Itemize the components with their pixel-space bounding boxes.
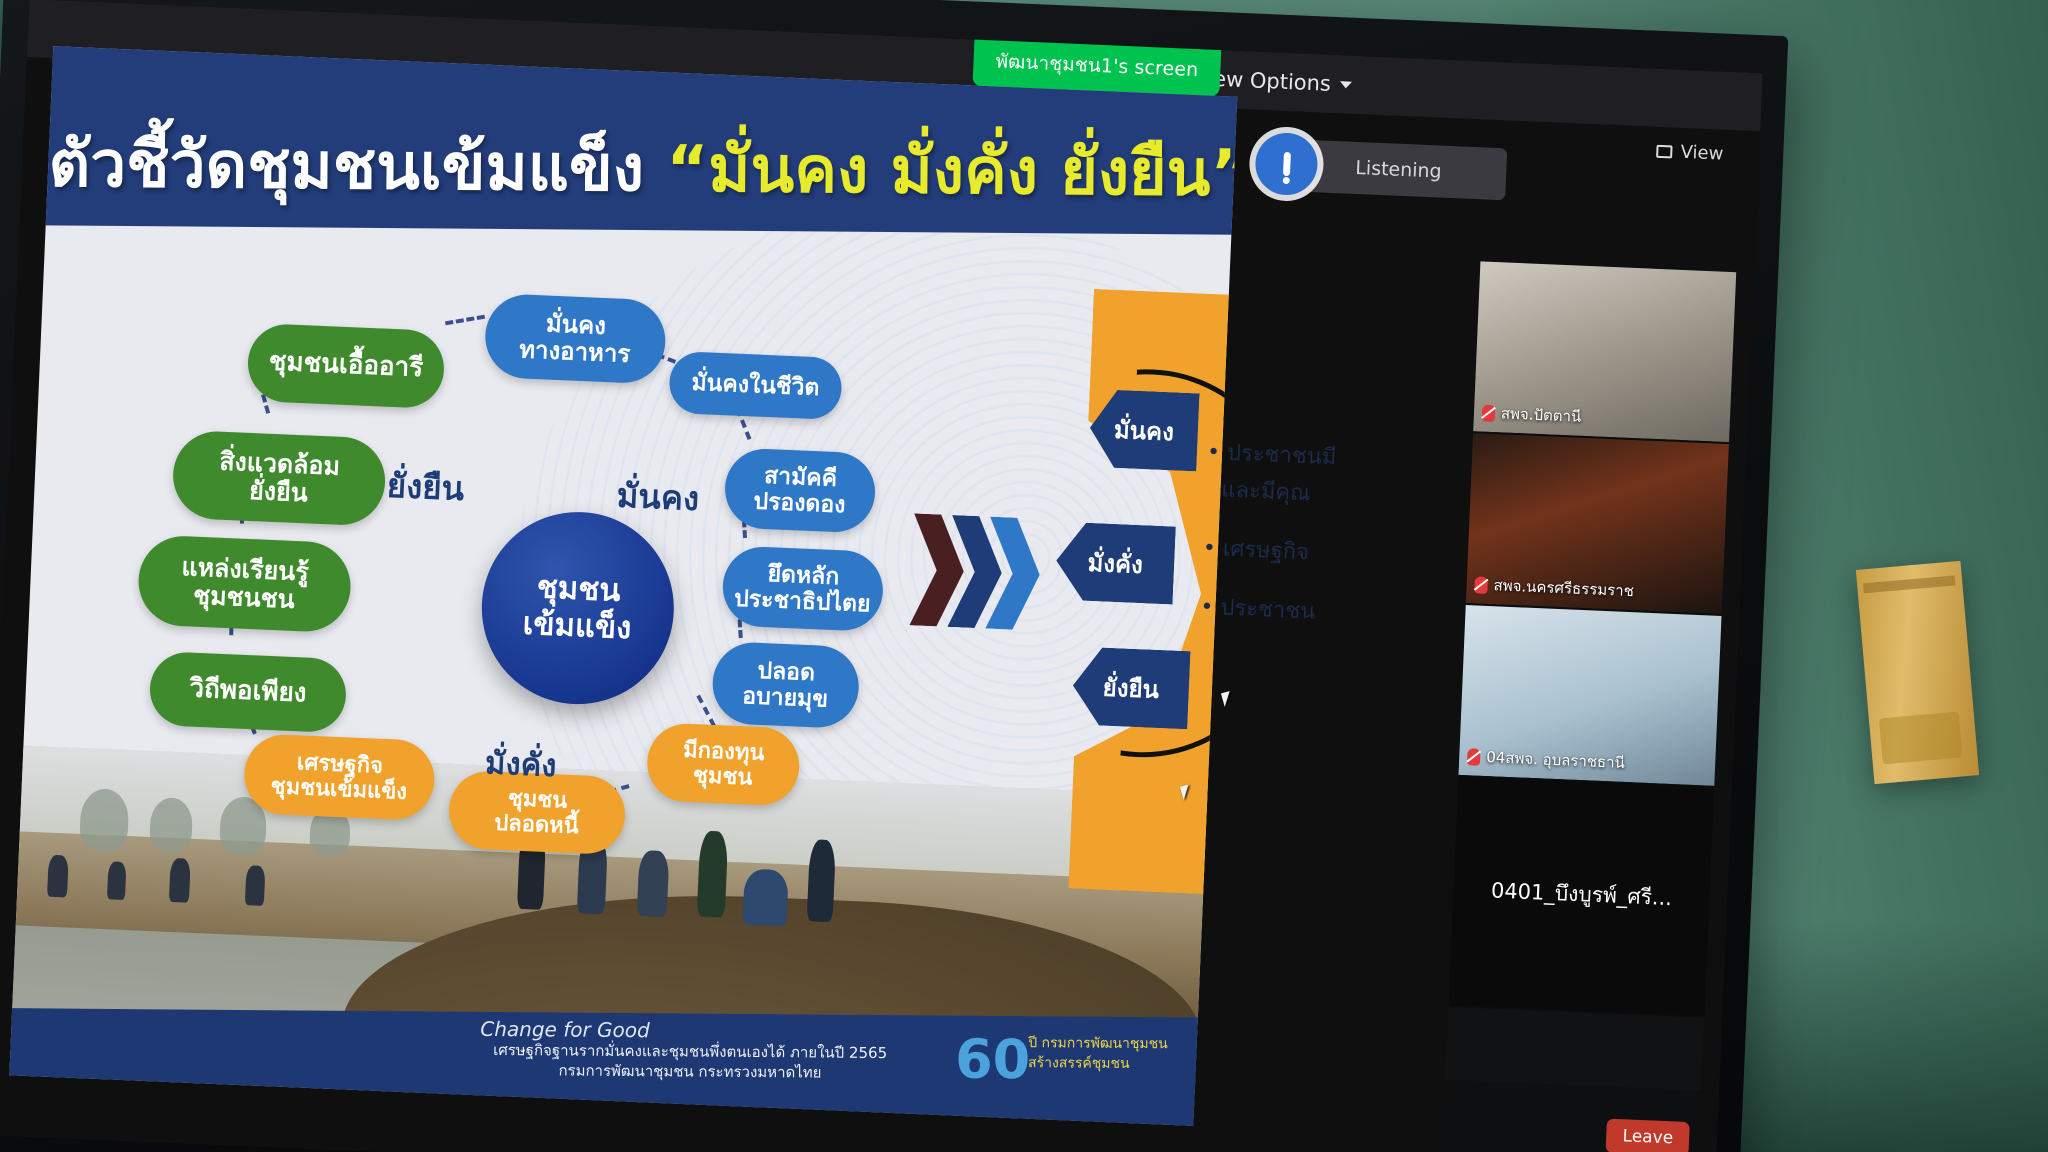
photo-person [47, 855, 69, 898]
badge-line-1: ปี กรมการพัฒนาชุมชน [1028, 1034, 1168, 1055]
bullet-text: และมีคุณ [1221, 477, 1311, 506]
mic-bar [1282, 152, 1290, 176]
participant-name-row: สพจ.นครศรีธรรมราช [1474, 572, 1634, 603]
active-speaker-name: 0401_บึงบูรพ์_ศรี... [1453, 873, 1710, 917]
footer-line-1: เศรษฐกิจฐานรากมั่นคงและชุมชนพึ่งตนเองได้… [460, 1040, 920, 1064]
slide-title: ตัวชี้วัดชุมชนเข้มแข็ง “มั่นคง มั่งคั่ง … [48, 113, 1234, 224]
view-button-label: View [1680, 142, 1724, 165]
zoom-meeting-window: View Options พัฒนาชุมชน1's screen View L… [0, 0, 1763, 1152]
chevron-arrow-blue [985, 517, 1042, 631]
wooden-object [1856, 561, 1979, 784]
view-layout-button[interactable]: View [1656, 141, 1724, 165]
photo-tree [149, 797, 193, 853]
photo-person [245, 865, 266, 906]
photo-person [807, 839, 836, 922]
pill-learning-center[interactable]: แหล่งเรียนรู้ ชุมชนชน [137, 534, 353, 633]
photo-person [169, 858, 191, 903]
chevron-shape [985, 517, 1042, 631]
grid-view-icon [1656, 145, 1673, 159]
pill-food-security[interactable]: มั่นคง ทางอาหาร [484, 293, 667, 385]
participant-tile[interactable]: สพจ.ปัตตานี [1473, 261, 1736, 444]
pill-life-security[interactable]: มั่นคงในชีวิต [668, 351, 842, 420]
photo-person [697, 831, 729, 918]
mic-muted-icon [1482, 404, 1496, 422]
pill-community-fund[interactable]: มีกองทุน ชุมชน [646, 722, 801, 806]
participant-name: สพจ.ปัตตานี [1500, 401, 1581, 428]
pill-free-of-vice[interactable]: ปลอด อบายมุข [711, 641, 860, 729]
anniversary-badge-text: ปี กรมการพัฒนาชุมชน สร้างสรรค์ชุมชน [1028, 1034, 1168, 1074]
footer-line-2: กรมการพัฒนาชุมชน กระทรวงมหาดไทย [460, 1060, 920, 1084]
active-speaker-tile[interactable]: 0401_บึงบูรพ์_ศรี... [1449, 777, 1715, 1018]
pill-democracy[interactable]: ยึดหลัก ประชาธิปไตย [721, 545, 884, 632]
photo-tree [79, 788, 130, 852]
bullet-text: ประชาชน [1220, 596, 1316, 625]
bullet-text: เศรษฐกิจ [1222, 537, 1309, 566]
pill-sustainable-environment[interactable]: สิ่งแวดล้อม ยั่งยืน [171, 430, 387, 527]
tv-screen: View Options พัฒนาชุมชน1's screen View L… [0, 0, 1763, 1152]
group-label-sustainable: ยั่งยืน [386, 459, 466, 515]
photo-person [742, 868, 788, 926]
pill-sufficiency-way[interactable]: วิถีพอเพียง [148, 651, 347, 733]
mouse-cursor-secondary [1221, 689, 1240, 707]
group-label-secure: มั่นคง [616, 469, 701, 525]
chevron-down-icon [1340, 81, 1352, 89]
pill-unity-reconciliation[interactable]: สามัคคี ปรองดอง [723, 447, 876, 533]
anniversary-badge-number: 60 [955, 1028, 1031, 1092]
mic-dot [1282, 177, 1289, 184]
photo-person [637, 850, 670, 917]
mic-muted-icon [1467, 748, 1481, 766]
participant-name: สพจ.นครศรีธรรมราช [1493, 573, 1634, 603]
slide-bullet-list: • ประชาชนมี และมีคุณ • เศรษฐกิจ • ประชาช… [1199, 436, 1408, 658]
television: View Options พัฒนาชุมชน1's screen View L… [0, 0, 1788, 1152]
photo-person [107, 861, 127, 900]
bullet-item: และมีคุณ [1205, 473, 1406, 515]
pill-community-generosity[interactable]: ชุมชนเอื้ออารี [246, 323, 445, 409]
participant-rail: สพจ.ปัตตานี สพจ.นครศรีธรรมราช 04สพจ. อุบ… [1442, 261, 1736, 1152]
group-label-prosperous: มั่งคั่ง [484, 737, 558, 790]
core-line-1: ชุมชน [536, 569, 621, 610]
slide-title-gold: “มั่นคง มั่งคั่ง ยั่งยืน” [666, 133, 1237, 212]
participant-name-row: 04สพจ. อุบลราชธานี [1467, 744, 1626, 775]
participant-tile[interactable]: 04สพจ. อุบลราชธานี [1458, 605, 1721, 788]
badge-line-2: สร้างสรรค์ชุมชน [1028, 1054, 1168, 1075]
slide-footer-band: Change for Good เศรษฐกิจฐานรากมั่นคงและช… [9, 1008, 1237, 1126]
shared-slide: ตัวชี้วัดชุมชนเข้มแข็ง “มั่นคง มั่งคั่ง … [9, 46, 1237, 1126]
footer-text: เศรษฐกิจฐานรากมั่นคงและชุมชนพึ่งตนเองได้… [460, 1040, 920, 1084]
footer-tagline: Change for Good [480, 1017, 650, 1042]
bullet-item: • ประชาชนมี [1206, 436, 1407, 478]
participant-name-row: สพจ.ปัตตานี [1481, 401, 1581, 429]
core-line-2: เข้มแข็ง [522, 606, 632, 648]
participant-name: 04สพจ. อุบลราชธานี [1486, 745, 1626, 775]
listening-indicator: Listening [1290, 139, 1507, 200]
bullet-item: • ประชาชน [1200, 591, 1401, 633]
mic-muted-icon [1474, 576, 1488, 594]
bullet-text: ประชาชนมี [1226, 441, 1336, 471]
bullet-item: • เศรษฐกิจ [1202, 532, 1403, 574]
pill-community-economy[interactable]: เศรษฐกิจ ชุมชนเข้มแข็ง [243, 733, 436, 821]
connector-dash [445, 315, 485, 326]
participant-tile[interactable]: สพจ.นครศรีธรรมราช [1466, 433, 1729, 616]
slide-title-white: ตัวชี้วัดชุมชนเข้มแข็ง [48, 128, 644, 207]
listening-label: Listening [1355, 157, 1442, 183]
leave-button[interactable]: Leave [1606, 1119, 1690, 1152]
